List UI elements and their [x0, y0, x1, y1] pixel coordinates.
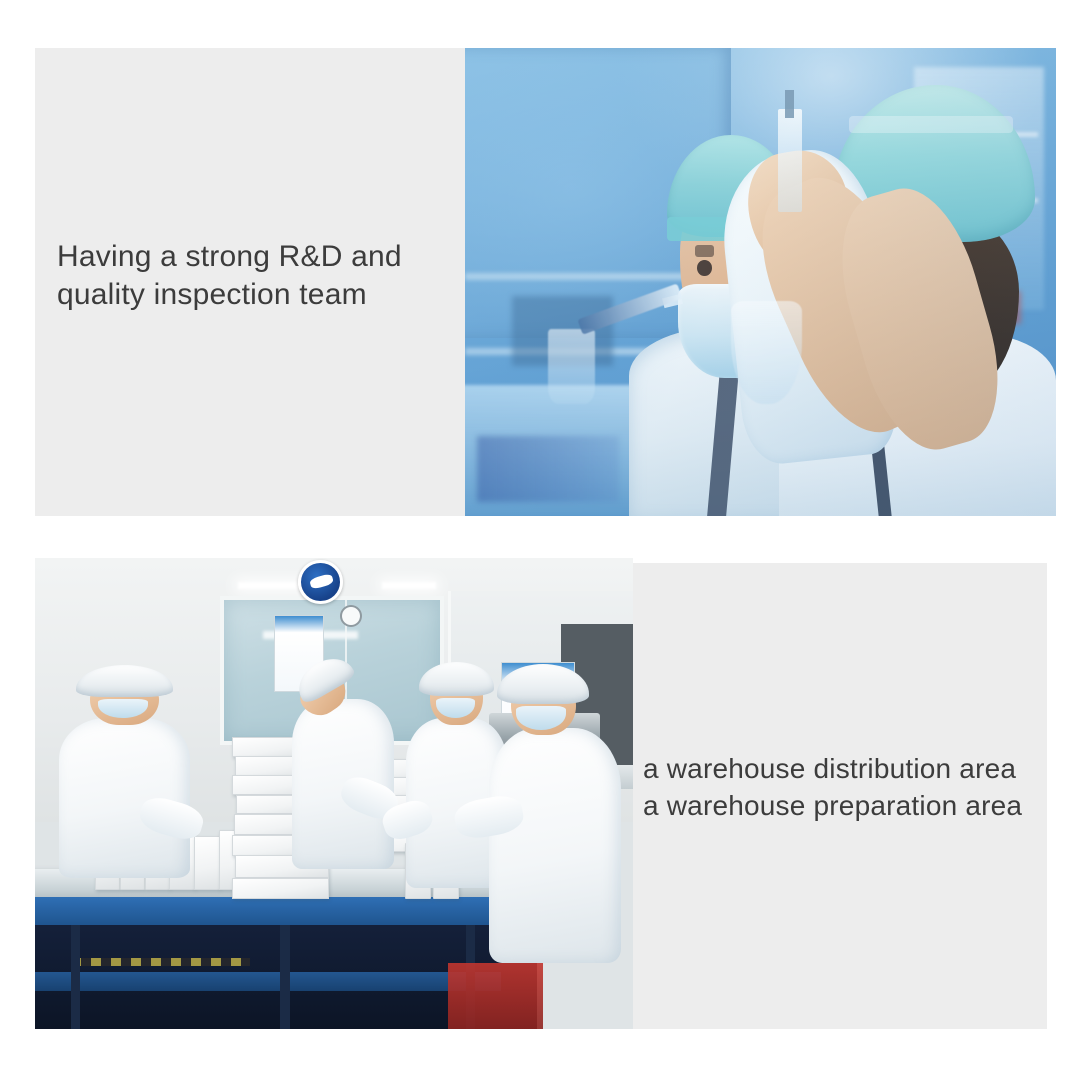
table-leg	[280, 925, 290, 1029]
vial-tip	[785, 90, 793, 118]
glass-beaker	[548, 329, 595, 404]
lab-quality-inspection-photo	[465, 48, 1056, 516]
section-warehouse-areas: a warehouse distribution area a warehous…	[0, 540, 1080, 1080]
table-leg	[71, 925, 81, 1029]
caption-warehouse-areas: a warehouse distribution area a warehous…	[643, 750, 1043, 824]
page-root: Having a strong R&D and quality inspecti…	[0, 0, 1080, 1080]
white-carton	[194, 836, 219, 890]
wall-clock-icon	[340, 605, 362, 627]
white-coat	[489, 728, 621, 964]
warehouse-worker-bending	[292, 699, 394, 869]
white-carton	[232, 878, 329, 899]
packing-table-frame	[35, 897, 537, 925]
warehouse-worker-right	[489, 728, 621, 964]
technician-eye	[697, 260, 712, 276]
wall-sign-round-icon	[298, 560, 343, 604]
hazard-stripe	[71, 958, 250, 966]
technician-eyebrow	[695, 245, 714, 257]
white-coat	[59, 718, 191, 878]
caption-rnd-quality: Having a strong R&D and quality inspecti…	[57, 238, 457, 315]
floor-red-mat	[448, 963, 544, 1029]
lab-vial-tray	[477, 436, 619, 502]
ceiling-light	[382, 582, 436, 590]
warehouse-worker-left	[59, 718, 191, 878]
hairnet-fold	[849, 116, 1014, 133]
section-rnd-quality: Having a strong R&D and quality inspecti…	[0, 0, 1080, 540]
glass-vial	[778, 109, 802, 212]
warehouse-packing-photo	[35, 558, 633, 1029]
table-lower-shelf	[35, 972, 501, 991]
